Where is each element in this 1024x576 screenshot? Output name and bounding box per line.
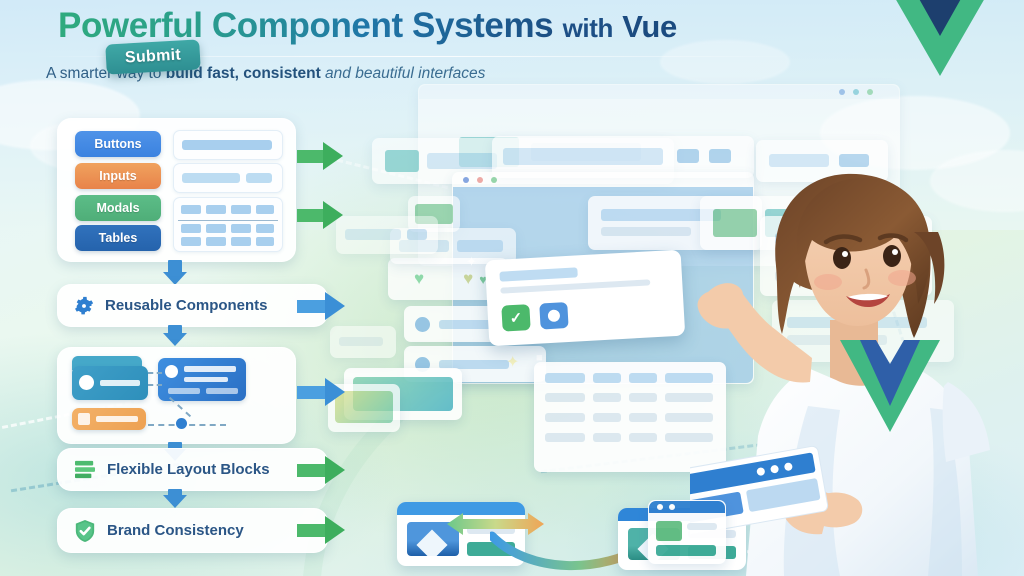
flow-arrow-right xyxy=(297,382,345,398)
panel-mockup xyxy=(330,326,396,358)
window-dot xyxy=(669,504,675,510)
window-dot xyxy=(657,504,663,510)
flow-arrow-right xyxy=(297,296,345,312)
illustrated-developer xyxy=(690,170,1024,576)
sparkle-icon: ✦ xyxy=(466,254,477,270)
panel-mockup xyxy=(336,216,438,254)
submit-button[interactable]: Submit xyxy=(105,39,201,74)
flow-arrow-right xyxy=(297,460,345,476)
dashed-connector xyxy=(148,372,162,374)
reusable-components-card[interactable]: Reusable Components xyxy=(57,284,328,327)
page-title: Powerful Component Systems with Vue xyxy=(58,6,677,46)
composition-card xyxy=(57,347,296,444)
window-dot xyxy=(477,177,483,183)
heart-icon: ♥ xyxy=(463,269,473,289)
dashed-connector xyxy=(148,384,162,386)
window-dot xyxy=(853,89,859,95)
pill-label: Inputs xyxy=(99,169,137,183)
window-dot xyxy=(867,89,873,95)
form-card-mockup: ✓ xyxy=(485,250,685,347)
orange-component-block xyxy=(72,408,146,430)
brand-consistency-label: Brand Consistency xyxy=(107,522,244,539)
subtitle-tail: and beautiful interfaces xyxy=(321,65,486,82)
pill-label: Buttons xyxy=(94,137,141,151)
pill-buttons[interactable]: Buttons xyxy=(75,131,161,157)
pill-label: Tables xyxy=(99,231,138,245)
connector-node xyxy=(176,418,187,429)
pill-label: Modals xyxy=(96,201,139,215)
pill-modals[interactable]: Modals xyxy=(75,195,161,221)
teal-component-block xyxy=(72,366,148,400)
poster-canvas: Powerful Component Systems with Vue A sm… xyxy=(0,0,1024,576)
flow-arrow-right xyxy=(297,520,345,536)
dashed-connector xyxy=(148,424,226,426)
table-grid-preview xyxy=(173,197,283,252)
title-with: with xyxy=(563,13,613,43)
heart-icon: ♥ xyxy=(414,269,424,289)
window-dot xyxy=(491,177,497,183)
flow-arrow-right xyxy=(297,146,343,162)
pill-inputs[interactable]: Inputs xyxy=(75,163,161,189)
reusable-components-label: Reusable Components xyxy=(105,297,268,314)
single-bar-preview xyxy=(173,130,283,160)
checkmark-icon: ✓ xyxy=(509,309,523,328)
pill-tables[interactable]: Tables xyxy=(75,225,161,251)
component-catalog-card: Buttons Inputs Modals Tables xyxy=(57,118,296,262)
mini-browser-mockup xyxy=(648,500,726,564)
title-vue: Vue xyxy=(622,9,677,44)
flexible-layout-blocks-card[interactable]: Flexible Layout Blocks xyxy=(57,448,328,491)
radio-control[interactable] xyxy=(539,302,568,330)
gear-icon xyxy=(74,296,94,316)
layout-bars-icon xyxy=(74,460,96,480)
window-dot xyxy=(463,177,469,183)
window-dot xyxy=(839,89,845,95)
radio-dot-icon xyxy=(548,309,561,322)
title-main: Powerful Component Systems xyxy=(58,6,553,45)
sparkle-icon: ✦ xyxy=(506,352,519,372)
vue-logo-icon xyxy=(880,0,1000,84)
blue-component-block xyxy=(158,358,246,401)
flow-arrow-right xyxy=(297,205,343,221)
shield-check-icon xyxy=(74,519,96,543)
two-field-preview xyxy=(173,163,283,193)
brand-consistency-card[interactable]: Brand Consistency xyxy=(57,508,328,553)
sparkle-icon: ■ xyxy=(536,352,543,364)
flexible-layout-blocks-label: Flexible Layout Blocks xyxy=(107,461,270,478)
checkbox-control[interactable]: ✓ xyxy=(501,304,530,332)
